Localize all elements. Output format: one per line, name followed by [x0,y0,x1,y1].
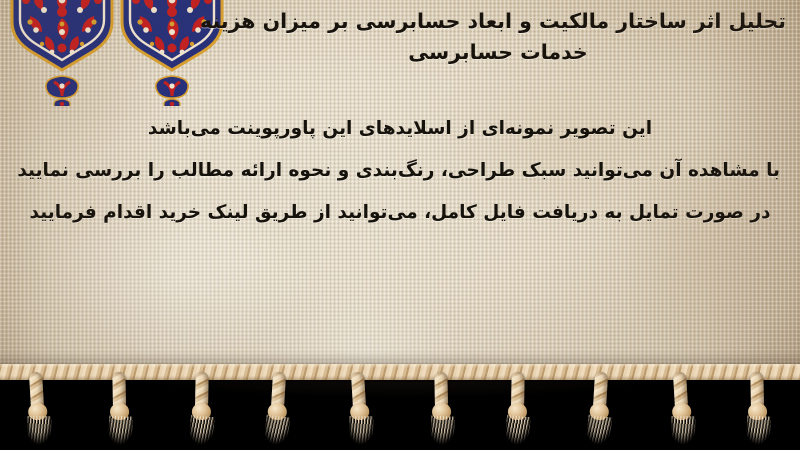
slide-title-line-2: خدمات حسابرسی [210,37,786,68]
tassel-fan [430,415,455,446]
carpet-tassel [265,371,291,444]
carpet-tassel [506,372,529,444]
carpet-tassel [25,371,51,444]
carpet-tassel [587,371,613,444]
carpet-tassel [430,372,453,444]
tassel-fan [108,415,133,446]
tassel-fan [263,415,291,448]
carpet-tassel [190,372,213,444]
persian-medallion-ornament-left [6,0,118,110]
tassel-fan [746,415,771,446]
tassel-fan [188,415,215,447]
slide-body-line-1: این تصویر نمونه‌ای از اسلایدهای این پاور… [20,108,780,150]
slide-title-line-1: تحلیل اثر ساختار مالکیت و ابعاد حسابرسی … [210,6,786,37]
tassel-fan [349,416,373,446]
tassel-fan [671,416,695,446]
slide-body-text: این تصویر نمونه‌ای از اسلایدهای این پاور… [20,108,780,234]
tassel-fan [504,415,531,447]
carpet-tassel [746,372,769,444]
slide-body-line-2: با مشاهده آن می‌توانید سبک طراحی، رنگ‌بن… [20,150,780,192]
carpet-tassel [669,371,695,444]
slide-body-line-3: در صورت تمایل به دریافت فایل کامل، می‌تو… [20,192,780,234]
carpet-tassel [108,372,131,444]
tassel-fan [585,415,613,448]
tassel-fan [27,416,51,446]
presentation-slide: تحلیل اثر ساختار مالکیت و ابعاد حسابرسی … [0,0,800,450]
carpet-tassel [347,371,373,444]
slide-title: تحلیل اثر ساختار مالکیت و ابعاد حسابرسی … [210,6,786,68]
